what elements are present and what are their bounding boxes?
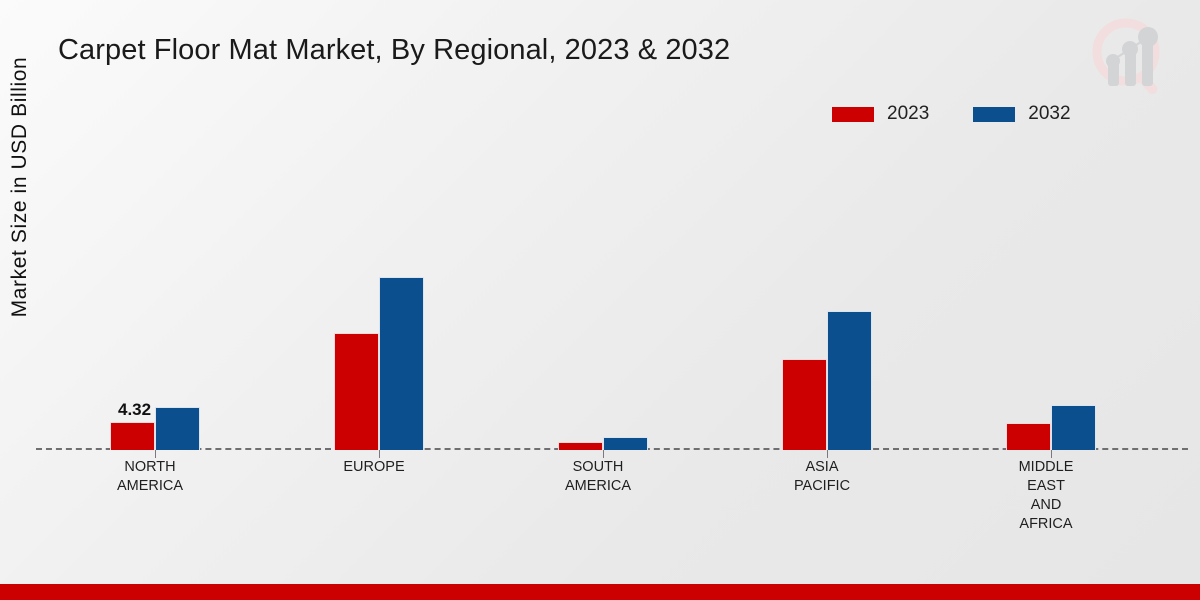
y-axis-title: Market Size in USD Billion	[8, 17, 32, 357]
x-axis-label-line: PACIFIC	[747, 477, 897, 496]
bars-europe	[334, 277, 424, 450]
x-axis-label-line: AFRICA	[971, 515, 1121, 534]
plot-area: 4.32	[36, 150, 1188, 450]
x-axis-label-line: EUROPE	[299, 458, 449, 477]
bar-asia-pacific-2023[interactable]	[782, 359, 827, 450]
x-axis-label-europe: EUROPE	[299, 458, 449, 477]
legend-item-2032[interactable]: 2032	[973, 103, 1070, 125]
chart-legend: 2023 2032	[832, 103, 1071, 125]
legend-swatch-2032	[973, 107, 1015, 122]
legend-swatch-2023	[832, 107, 874, 122]
bar-europe-2032[interactable]	[379, 277, 424, 450]
bar-south-america-2023[interactable]	[558, 442, 603, 450]
legend-label-2023: 2023	[887, 103, 929, 125]
x-axis-label-line: AMERICA	[75, 477, 225, 496]
bar-north-america-2023[interactable]	[110, 422, 155, 450]
x-axis-label-line: SOUTH	[523, 458, 673, 477]
chart-figure: Carpet Floor Mat Market, By Regional, 20…	[0, 0, 1200, 600]
tick-south-america	[603, 450, 604, 458]
x-axis-label-line: ASIA	[747, 458, 897, 477]
x-axis-label-line: NORTH	[75, 458, 225, 477]
bar-asia-pacific-2032[interactable]	[827, 311, 872, 450]
footer-accent-bar	[0, 584, 1200, 600]
value-label-north-america-2023: 4.32	[118, 400, 151, 420]
tick-middle-east-and-africa	[1051, 450, 1052, 458]
x-axis-label-middle-east-and-africa: MIDDLE EAST AND AFRICA	[971, 458, 1121, 534]
x-axis-label-asia-pacific: ASIA PACIFIC	[747, 458, 897, 496]
bar-south-america-2032[interactable]	[603, 437, 648, 450]
x-axis-label-line: EAST	[971, 477, 1121, 496]
bars-asia-pacific	[782, 311, 872, 450]
x-axis-label-north-america: NORTH AMERICA	[75, 458, 225, 496]
bars-middle-east-and-africa	[1006, 405, 1096, 450]
bars-south-america	[558, 437, 648, 450]
x-axis-label-south-america: SOUTH AMERICA	[523, 458, 673, 496]
x-axis-label-line: AND	[971, 496, 1121, 515]
page-title: Carpet Floor Mat Market, By Regional, 20…	[58, 34, 730, 67]
legend-label-2032: 2032	[1028, 103, 1070, 125]
tick-asia-pacific	[827, 450, 828, 458]
magnifier-bar-chart-logo-icon	[1082, 12, 1178, 98]
legend-item-2023[interactable]: 2023	[832, 103, 929, 125]
bar-europe-2023[interactable]	[334, 333, 379, 450]
x-axis-label-line: AMERICA	[523, 477, 673, 496]
bar-middle-east-and-africa-2023[interactable]	[1006, 423, 1051, 450]
tick-north-america	[155, 450, 156, 458]
bar-north-america-2032[interactable]	[155, 407, 200, 450]
bar-middle-east-and-africa-2032[interactable]	[1051, 405, 1096, 450]
x-axis-label-line: MIDDLE	[971, 458, 1121, 477]
tick-europe	[379, 450, 380, 458]
